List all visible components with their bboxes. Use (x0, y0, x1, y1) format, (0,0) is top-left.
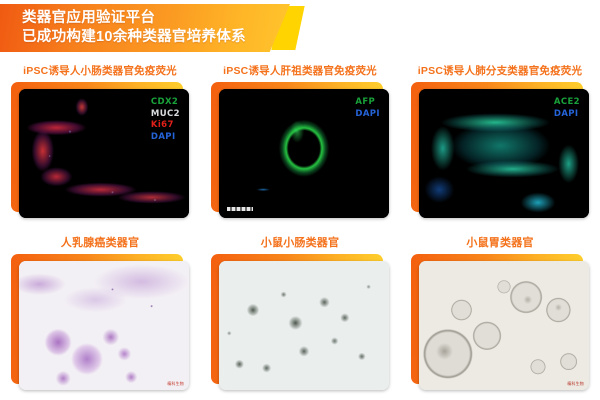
panel-title: 人乳腺癌类器官 (0, 232, 200, 254)
image-stack: ACE2 DAPI (411, 82, 589, 218)
panel-card-ipsc-hepatic[interactable]: iPSC诱导人肝祖类器官免疫荧光 AFP DAPI (200, 60, 400, 218)
panel-title: iPSC诱导人肝祖类器官免疫荧光 (200, 60, 400, 82)
panel-title: 小鼠胃类器官 (400, 232, 600, 254)
brightfield-layer (419, 261, 589, 390)
marker-legend: AFP DAPI (355, 97, 380, 120)
image-stack (211, 254, 389, 390)
micrograph-mouse-intestinal[interactable] (219, 261, 389, 390)
marker-legend: ACE2 DAPI (554, 97, 580, 120)
marker-label: MUC2 (151, 109, 180, 121)
panel-title: iPSC诱导人小肠类器官免疫荧光 (0, 60, 200, 82)
marker-legend: CDX2 MUC2 Ki67 DAPI (151, 97, 180, 143)
panel-row-top: iPSC诱导人小肠类器官免疫荧光 CDX2 MUC2 Ki67 DAPI iPS… (0, 60, 600, 218)
micrograph-mouse-gastric[interactable]: 精科生物 (419, 261, 589, 390)
marker-label: AFP (355, 97, 380, 109)
image-stack: 精科生物 (11, 254, 189, 390)
header-banner: 类器官应用验证平台 已成功构建10余种类器官培养体系 (0, 4, 330, 52)
image-stack: CDX2 MUC2 Ki67 DAPI (11, 82, 189, 218)
marker-label: DAPI (151, 132, 180, 144)
micrograph-ipsc-hepatic[interactable]: AFP DAPI (219, 89, 389, 218)
brightfield-layer (19, 261, 189, 390)
panel-card-mouse-intestinal[interactable]: 小鼠小肠类器官 (200, 232, 400, 390)
marker-label: DAPI (554, 109, 580, 121)
slide-root: 类器官应用验证平台 已成功构建10余种类器官培养体系 iPSC诱导人小肠类器官免… (0, 0, 600, 400)
micrograph-ipsc-lung[interactable]: ACE2 DAPI (419, 89, 589, 218)
micrograph-human-breast-cancer[interactable]: 精科生物 (19, 261, 189, 390)
banner-title-line1: 类器官应用验证平台 (22, 9, 290, 28)
brightfield-layer (219, 261, 389, 390)
image-stack: 精科生物 (411, 254, 589, 390)
panel-card-mouse-gastric[interactable]: 小鼠胃类器官 精科生物 (400, 232, 600, 390)
panel-title: 小鼠小肠类器官 (200, 232, 400, 254)
panel-card-ipsc-intestinal[interactable]: iPSC诱导人小肠类器官免疫荧光 CDX2 MUC2 Ki67 DAPI (0, 60, 200, 218)
image-signature (582, 207, 583, 213)
marker-label: CDX2 (151, 97, 180, 109)
panel-row-bottom: 人乳腺癌类器官 精科生物 小鼠小肠类器官 小鼠胃类器官 (0, 232, 600, 390)
scale-bar (227, 207, 253, 211)
image-watermark: 精科生物 (567, 381, 584, 387)
image-stack: AFP DAPI (211, 82, 389, 218)
marker-label: DAPI (355, 109, 380, 121)
micrograph-ipsc-intestinal[interactable]: CDX2 MUC2 Ki67 DAPI (19, 89, 189, 218)
marker-label: ACE2 (554, 97, 580, 109)
panel-title: iPSC诱导人肺分支类器官免疫荧光 (400, 60, 600, 82)
banner-title-line2: 已成功构建10余种类器官培养体系 (22, 28, 290, 47)
panel-card-ipsc-lung[interactable]: iPSC诱导人肺分支类器官免疫荧光 ACE2 DAPI (400, 60, 600, 218)
marker-label: Ki67 (151, 120, 180, 132)
image-watermark: 精科生物 (167, 381, 184, 387)
banner-body: 类器官应用验证平台 已成功构建10余种类器官培养体系 (0, 4, 290, 52)
panel-card-human-breast-cancer[interactable]: 人乳腺癌类器官 精科生物 (0, 232, 200, 390)
